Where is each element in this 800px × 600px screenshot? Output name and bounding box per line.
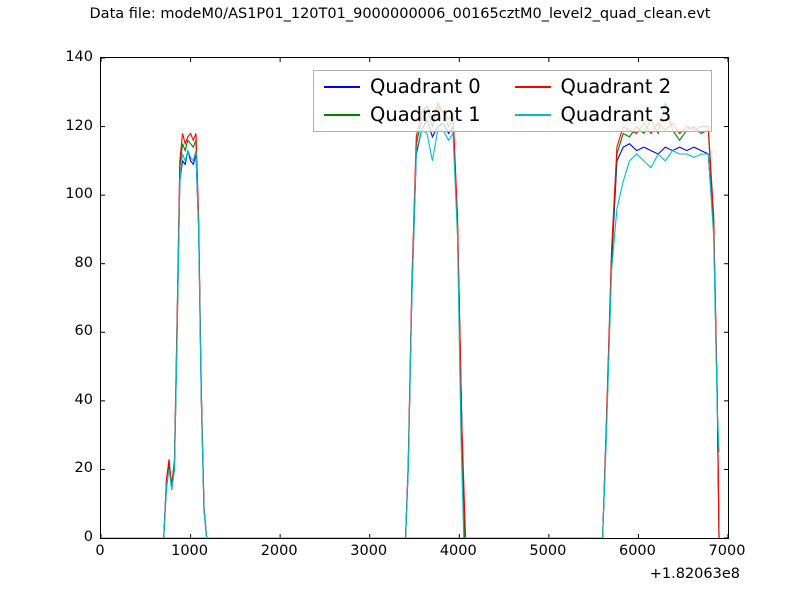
y-tick-label-20: 20 bbox=[75, 460, 93, 476]
legend-entry-quadrant-1[interactable]: Quadrant 1 bbox=[324, 101, 515, 129]
x-axis-offset-label: +1.82063e8 bbox=[0, 566, 740, 582]
series-line-quadrant-0 bbox=[164, 120, 719, 538]
page-title: Data file: modeM0/AS1P01_120T01_90000000… bbox=[0, 6, 800, 22]
legend-label-quadrant-0: Quadrant 0 bbox=[370, 77, 481, 97]
legend-entry-quadrant-0[interactable]: Quadrant 0 bbox=[324, 73, 515, 101]
y-tick-label-60: 60 bbox=[75, 323, 93, 339]
x-tick-label-7000: 7000 bbox=[709, 543, 746, 559]
x-tick-label-6000: 6000 bbox=[619, 543, 656, 559]
x-tick-label-0: 0 bbox=[95, 543, 104, 559]
legend-entry-quadrant-3[interactable]: Quadrant 3 bbox=[515, 101, 706, 129]
legend-label-quadrant-2: Quadrant 2 bbox=[561, 77, 672, 97]
y-tick-label-100: 100 bbox=[65, 186, 93, 202]
x-tick-label-3000: 3000 bbox=[350, 543, 387, 559]
legend-entry-quadrant-2[interactable]: Quadrant 2 bbox=[515, 73, 706, 101]
x-tick-label-2000: 2000 bbox=[261, 543, 298, 559]
figure-canvas: Data file: modeM0/AS1P01_120T01_90000000… bbox=[0, 0, 800, 600]
x-tick-label-4000: 4000 bbox=[440, 543, 477, 559]
x-tick-label-5000: 5000 bbox=[529, 543, 566, 559]
x-tick-label-1000: 1000 bbox=[171, 543, 208, 559]
series-line-quadrant-1 bbox=[164, 103, 719, 538]
y-tick-label-80: 80 bbox=[75, 255, 93, 271]
legend-swatch-quadrant-3 bbox=[515, 114, 551, 116]
series-line-quadrant-3 bbox=[164, 130, 719, 538]
legend-label-quadrant-3: Quadrant 3 bbox=[561, 105, 672, 125]
y-axis-tick-labels: 020406080100120140 bbox=[50, 57, 93, 537]
y-tick-label-120: 120 bbox=[65, 118, 93, 134]
legend-swatch-quadrant-2 bbox=[515, 86, 551, 88]
x-axis-tick-labels: 01000200030004000500060007000 bbox=[100, 543, 727, 565]
legend-swatch-quadrant-0 bbox=[324, 86, 360, 88]
y-tick-label-40: 40 bbox=[75, 392, 93, 408]
legend-label-quadrant-1: Quadrant 1 bbox=[370, 105, 481, 125]
y-tick-label-140: 140 bbox=[65, 49, 93, 65]
legend-swatch-quadrant-1 bbox=[324, 114, 360, 116]
legend: Quadrant 0 Quadrant 2 Quadrant 1 Quadran… bbox=[313, 70, 712, 132]
y-tick-label-0: 0 bbox=[84, 529, 93, 545]
series-line-quadrant-2 bbox=[164, 106, 719, 538]
